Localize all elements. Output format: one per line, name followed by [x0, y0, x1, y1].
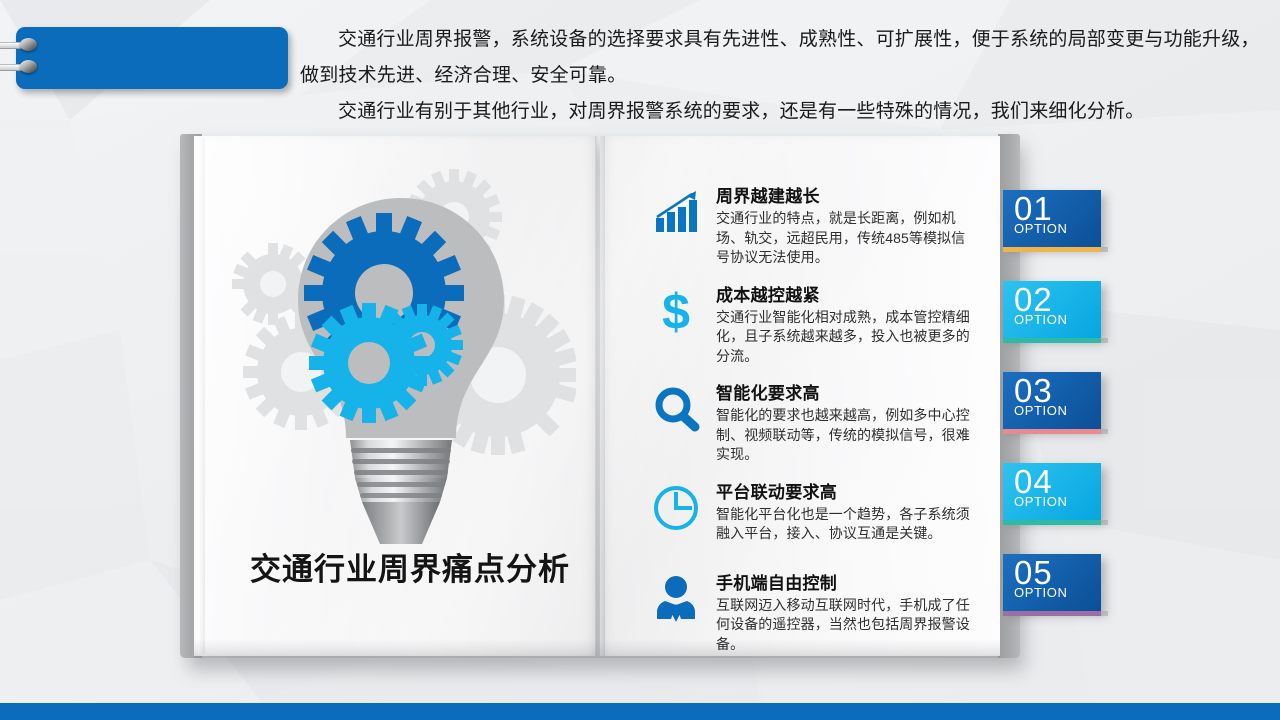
- list-item: $ 成本越控越紧 交通行业智能化相对成熟，成本管控精细化，且子系统越来越多，投入…: [648, 281, 978, 367]
- tab-accent-shadow: [1101, 247, 1108, 252]
- intro-paragraph-2: 交通行业有别于其他行业，对周界报警系统的要求，还是有一些特殊的情况，我们来细化分…: [300, 94, 1260, 130]
- binder-ring-icon: [0, 60, 40, 73]
- clock-icon: [648, 480, 704, 536]
- tab-accent-bar: [1003, 520, 1101, 525]
- option-tab-04[interactable]: 04 OPTION: [1003, 463, 1101, 520]
- pain-point-list: 周界越建越长 交通行业的特点，就是长距离，例如机场、轨交，远超民用，传统485等…: [648, 182, 978, 667]
- page-title: 交通行业周界痛点分析: [250, 544, 580, 589]
- bar-chart-growth-icon: [648, 184, 704, 240]
- option-label: OPTION: [1014, 312, 1067, 327]
- businessman-user-icon: [648, 571, 704, 627]
- banner-body: [16, 27, 288, 89]
- intro-paragraph-1: 交通行业周界报警，系统设备的选择要求具有先进性、成熟性、可扩展性，便于系统的局部…: [300, 22, 1260, 94]
- tab-accent-shadow: [1101, 520, 1108, 525]
- list-item-title: 平台联动要求高: [716, 478, 978, 503]
- page-edge: [198, 138, 205, 654]
- list-item: 智能化要求高 智能化的要求也越来越高，例如多中心控制、视频联动等，传统的模拟信号…: [648, 379, 978, 465]
- option-tab-05[interactable]: 05 OPTION: [1003, 554, 1101, 611]
- list-item-desc: 互联网迈入移动互联网时代，手机成了任何设备的遥控器，当然也包括周界报警设备。: [716, 596, 978, 655]
- binder-ring-icon: [0, 38, 40, 51]
- list-item-title: 手机端自由控制: [716, 569, 978, 594]
- option-label: OPTION: [1014, 221, 1067, 236]
- tab-accent-bar: [1003, 611, 1101, 616]
- tab-accent-bar: [1003, 247, 1101, 252]
- lightbulb-with-gears-icon: [226, 160, 576, 560]
- list-item: 平台联动要求高 智能化平台化也是一个趋势，各子系统须融入平台，接入、协议互通是关…: [648, 478, 978, 556]
- option-tab-03[interactable]: 03 OPTION: [1003, 372, 1101, 429]
- magnifier-search-icon: [648, 381, 704, 437]
- list-item-desc: 交通行业的特点，就是长距离，例如机场、轨交，远超民用，传统485等模拟信号协议无…: [716, 209, 978, 268]
- title-banner[interactable]: [16, 27, 288, 89]
- list-item-desc: 智能化平台化也是一个趋势，各子系统须融入平台，接入、协议互通是关键。: [716, 505, 978, 544]
- option-label: OPTION: [1014, 585, 1067, 600]
- list-item: 手机端自由控制 互联网迈入移动互联网时代，手机成了任何设备的遥控器，当然也包括周…: [648, 569, 978, 655]
- book-spine: [595, 136, 605, 656]
- tab-accent-bar: [1003, 338, 1101, 343]
- option-tab-01[interactable]: 01 OPTION: [1003, 190, 1101, 247]
- option-label: OPTION: [1014, 403, 1067, 418]
- list-item-desc: 智能化的要求也越来越高，例如多中心控制、视频联动等，传统的模拟信号，很难实现。: [716, 406, 978, 465]
- svg-text:$: $: [662, 286, 690, 336]
- footer-bar: [0, 703, 1280, 720]
- intro-paragraphs: 交通行业周界报警，系统设备的选择要求具有先进性、成熟性、可扩展性，便于系统的局部…: [300, 22, 1260, 130]
- dollar-sign-icon: $: [648, 283, 704, 339]
- tab-accent-shadow: [1101, 611, 1108, 616]
- list-item-desc: 交通行业智能化相对成熟，成本管控精细化，且子系统越来越多，投入也被更多的分流。: [716, 308, 978, 367]
- list-item-title: 智能化要求高: [716, 379, 978, 404]
- tab-accent-bar: [1003, 429, 1101, 434]
- tab-accent-shadow: [1101, 338, 1108, 343]
- list-item: 周界越建越长 交通行业的特点，就是长距离，例如机场、轨交，远超民用，传统485等…: [648, 182, 978, 268]
- tab-accent-shadow: [1101, 429, 1108, 434]
- list-item-title: 周界越建越长: [716, 182, 978, 207]
- option-label: OPTION: [1014, 494, 1067, 509]
- option-tabs: 01 OPTION 02 OPTION 03 OPTION 04 OPTION …: [1003, 190, 1123, 645]
- list-item-title: 成本越控越紧: [716, 281, 978, 306]
- open-book-graphic: 交通行业周界痛点分析 周界越建越长 交通行业的特点，就是长距离，例如机场: [180, 134, 1020, 664]
- option-tab-02[interactable]: 02 OPTION: [1003, 281, 1101, 338]
